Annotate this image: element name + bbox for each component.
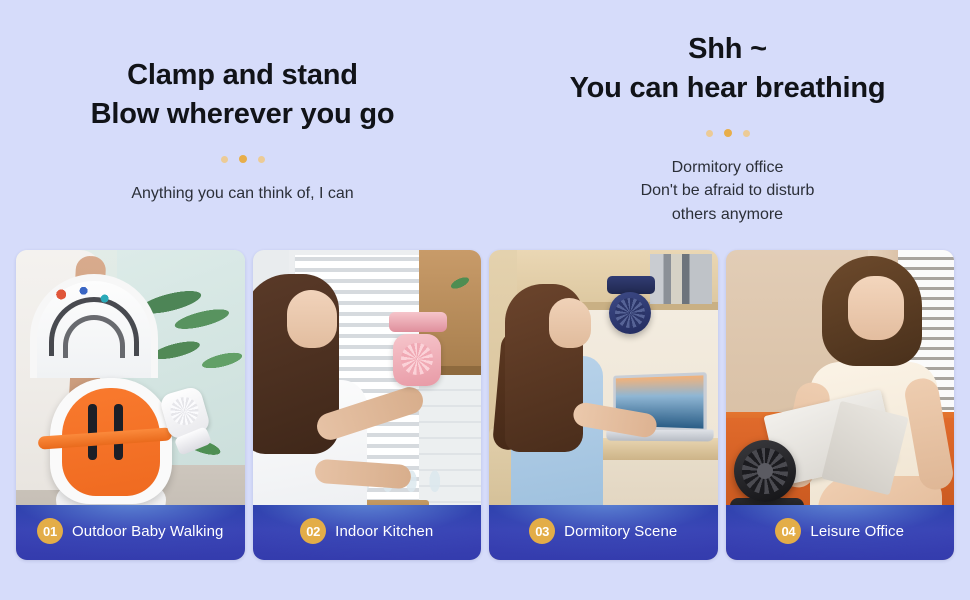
headline-left-line2: Blow wherever you go — [91, 95, 395, 134]
dot-icon-active — [239, 155, 247, 163]
subtitle-right: Dormitory office Don't be afraid to dist… — [641, 156, 815, 226]
scene-number-badge: 04 — [775, 518, 801, 544]
scene-card[interactable]: 03 Dormitory Scene — [489, 250, 718, 560]
dot-icon — [743, 130, 750, 137]
scene-caption-bar: 01 Outdoor Baby Walking — [16, 505, 245, 560]
dot-icon — [706, 130, 713, 137]
dot-separator-right — [706, 129, 750, 137]
scene-card[interactable]: 02 Indoor Kitchen — [253, 250, 482, 560]
clip-fan-icon — [393, 334, 441, 386]
clamp-fan-icon — [609, 292, 651, 334]
headline-right-line1: Shh ~ — [688, 33, 767, 65]
scene-number-badge: 03 — [529, 518, 555, 544]
subtitle-left: Anything you can think of, I can — [131, 182, 353, 205]
headline-right: Shh ~ You can hear breathing — [570, 30, 886, 107]
subtitle-right-line3: others anymore — [641, 203, 815, 226]
scene-label: Dormitory Scene — [564, 523, 677, 540]
headline-column-left: Clamp and stand Blow wherever you go Any… — [0, 0, 485, 250]
scene-caption-bar: 03 Dormitory Scene — [489, 505, 718, 560]
scene-card-row: 01 Outdoor Baby Walking 02 Indoor Kitche… — [16, 250, 954, 560]
scene-caption-bar: 04 Leisure Office — [726, 505, 955, 560]
scene-label: Indoor Kitchen — [335, 523, 433, 540]
dot-separator-left — [221, 155, 265, 163]
scene-number-badge: 01 — [37, 518, 63, 544]
headline-section: Clamp and stand Blow wherever you go Any… — [0, 0, 970, 250]
dot-icon — [258, 156, 265, 163]
headline-left-line1: Clamp and stand — [127, 59, 358, 91]
scene-number-badge: 02 — [300, 518, 326, 544]
scene-card[interactable]: 04 Leisure Office — [726, 250, 955, 560]
scene-label: Leisure Office — [810, 523, 904, 540]
headline-left: Clamp and stand Blow wherever you go — [91, 56, 395, 133]
headline-right-line2: You can hear breathing — [570, 69, 886, 108]
dot-icon — [221, 156, 228, 163]
scene-caption-bar: 02 Indoor Kitchen — [253, 505, 482, 560]
subtitle-right-line1: Dormitory office — [641, 156, 815, 179]
scene-card[interactable]: 01 Outdoor Baby Walking — [16, 250, 245, 560]
subtitle-right-line2: Don't be afraid to disturb — [641, 179, 815, 202]
desk-fan-icon — [734, 440, 796, 502]
dot-icon-active — [724, 129, 732, 137]
scene-label: Outdoor Baby Walking — [72, 523, 224, 540]
headline-column-right: Shh ~ You can hear breathing Dormitory o… — [485, 0, 970, 250]
